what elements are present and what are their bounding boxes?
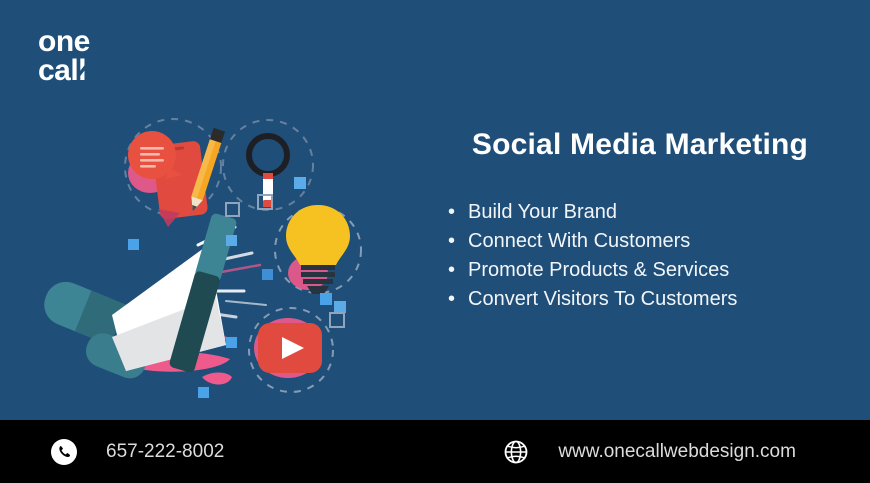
social-media-marketing-illustration (30, 105, 420, 405)
brand-logo[interactable]: one call (38, 28, 168, 98)
list-item: Build Your Brand (448, 198, 840, 227)
phone-icon (50, 438, 78, 466)
marketing-banner: one call (0, 0, 870, 483)
illustration-canvas (30, 105, 420, 405)
list-item: Promote Products & Services (448, 256, 840, 285)
footer-website-label: www.onecallwebdesign.com (558, 441, 796, 463)
globe-icon (502, 438, 530, 466)
magnifying-glass-icon (249, 136, 287, 207)
list-item: Connect With Customers (448, 227, 840, 256)
footer-phone-label: 657-222-8002 (106, 441, 224, 463)
benefits-list: Build Your Brand Connect With Customers … (440, 198, 840, 314)
logo-line-two: call (38, 57, 86, 86)
footer-phone[interactable]: 657-222-8002 (50, 438, 224, 466)
chat-bubble-icon (128, 131, 182, 179)
megaphone-icon (38, 213, 238, 385)
list-item: Convert Visitors To Customers (448, 285, 840, 314)
play-button-icon[interactable] (258, 323, 322, 373)
footer-bar: 657-222-8002 www.onecallwebdesign.com (0, 420, 870, 483)
logo-line-two-text: call (38, 54, 86, 87)
content-block: Social Media Marketing Build Your Brand … (440, 128, 840, 314)
footer-website[interactable]: www.onecallwebdesign.com (502, 438, 796, 466)
page-title: Social Media Marketing (440, 128, 840, 162)
logo-line-one: one (38, 28, 168, 57)
